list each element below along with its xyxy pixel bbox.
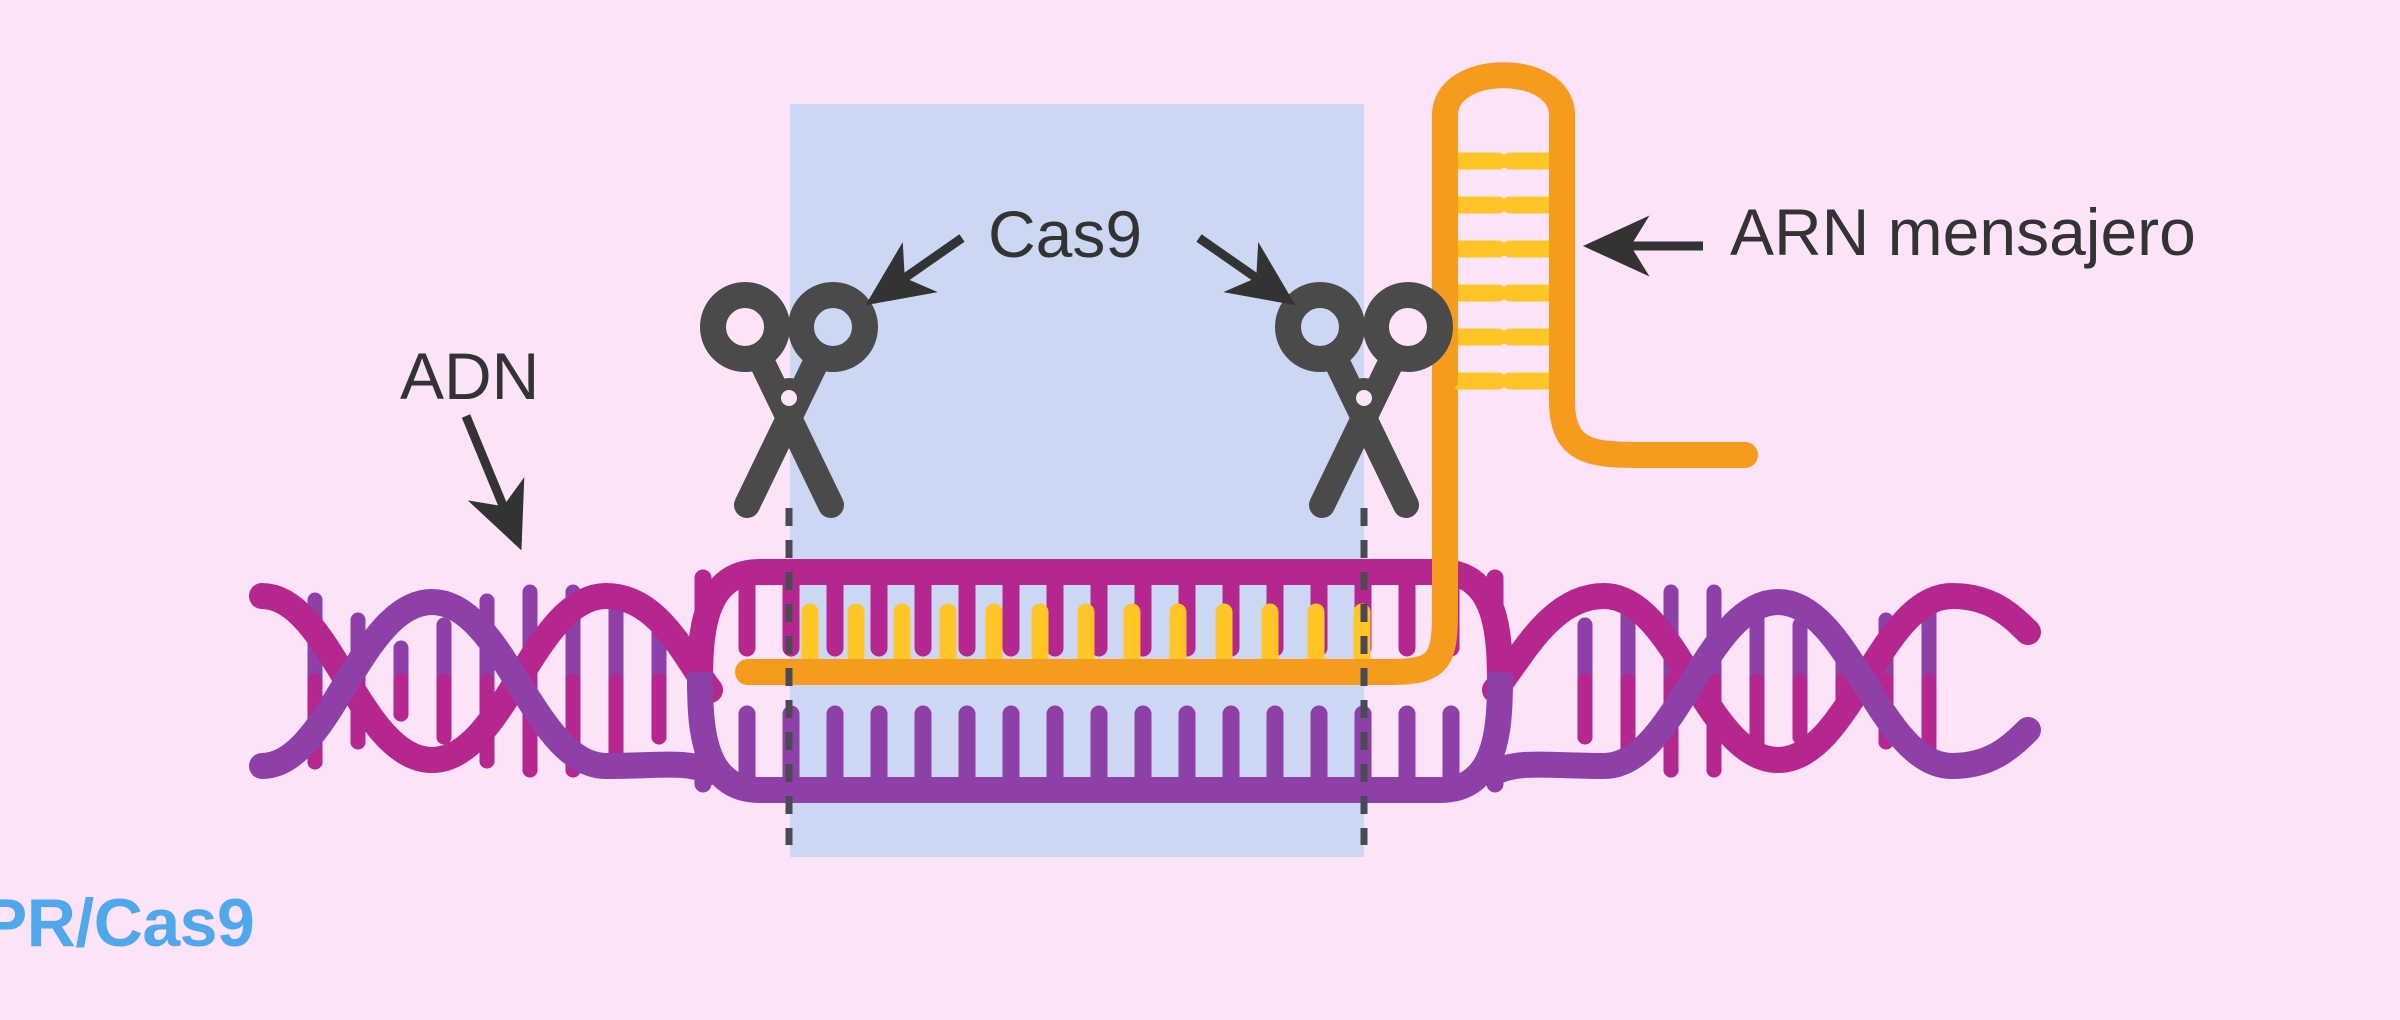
crispr-diagram: ADN Cas9 ARN mensajero Sistema CRISPR/Ca… bbox=[0, 0, 2400, 1020]
diagram-canvas bbox=[0, 0, 2400, 1020]
dna-right-helix bbox=[1495, 592, 2028, 772]
messenger-rna-hairpin bbox=[1445, 75, 1745, 455]
dna-left-helix bbox=[262, 592, 710, 772]
adn-leader-arrow bbox=[466, 416, 518, 542]
label-arn-mensajero: ARN mensajero bbox=[1730, 194, 2196, 270]
label-adn: ADN bbox=[400, 338, 539, 414]
label-cas9: Cas9 bbox=[988, 196, 1142, 272]
figure-caption: Sistema CRISPR/Cas9 bbox=[0, 884, 1100, 962]
rna-hairpin-backbone bbox=[1445, 75, 1745, 455]
